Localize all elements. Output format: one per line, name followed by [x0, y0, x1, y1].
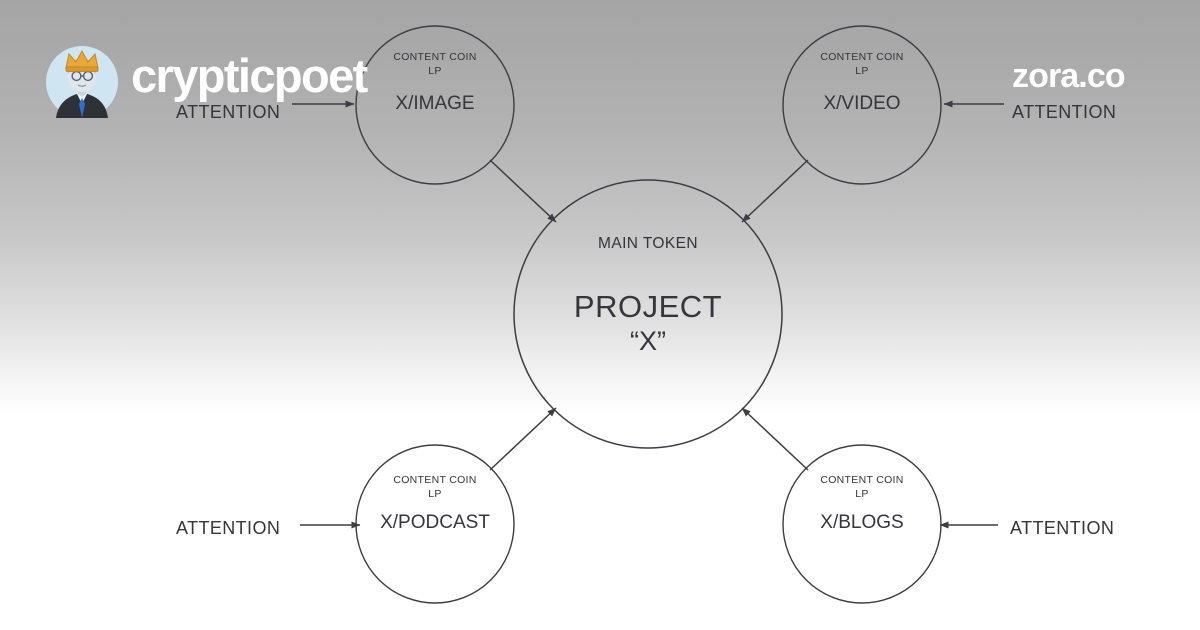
attention-label-bottom-left: ATTENTION — [176, 518, 280, 538]
x-blogs-label: X/BLOGS — [820, 512, 903, 533]
x-podcast-kicker-line1: CONTENT COIN — [393, 474, 476, 486]
x-podcast-label: X/PODCAST — [380, 512, 490, 533]
avatar[interactable] — [46, 46, 118, 118]
attention-label-top-right: ATTENTION — [1012, 102, 1116, 122]
x-podcast-kicker-line2: LP — [428, 488, 441, 500]
main-token-subtitle: “X” — [630, 326, 666, 356]
x-video-label: X/VIDEO — [823, 93, 900, 114]
x-blogs-kicker-line2: LP — [855, 488, 868, 500]
attention-label-bottom-right: ATTENTION — [1010, 518, 1114, 538]
link-x-blogs-to-center — [742, 408, 808, 470]
brand-wordmark-right: zora.co — [1012, 59, 1125, 93]
brand-wordmark-left: crypticpoet — [131, 52, 367, 99]
x-video-kicker-line2: LP — [855, 65, 868, 77]
main-token-kicker: MAIN TOKEN — [598, 235, 698, 252]
diagram-canvas: MAIN TOKEN PROJECT “X” CONTENT COIN LP X… — [0, 0, 1200, 630]
x-image-kicker-line2: LP — [428, 65, 441, 77]
attention-label-top-left: ATTENTION — [176, 102, 280, 122]
link-x-podcast-to-center — [490, 408, 556, 470]
x-image-kicker-line1: CONTENT COIN — [393, 51, 476, 63]
main-token-title: PROJECT — [574, 289, 722, 324]
link-x-image-to-center — [490, 160, 556, 222]
x-image-label: X/IMAGE — [395, 93, 474, 114]
x-video-kicker-line1: CONTENT COIN — [820, 51, 903, 63]
x-blogs-kicker-line1: CONTENT COIN — [820, 474, 903, 486]
link-x-video-to-center — [742, 160, 808, 222]
